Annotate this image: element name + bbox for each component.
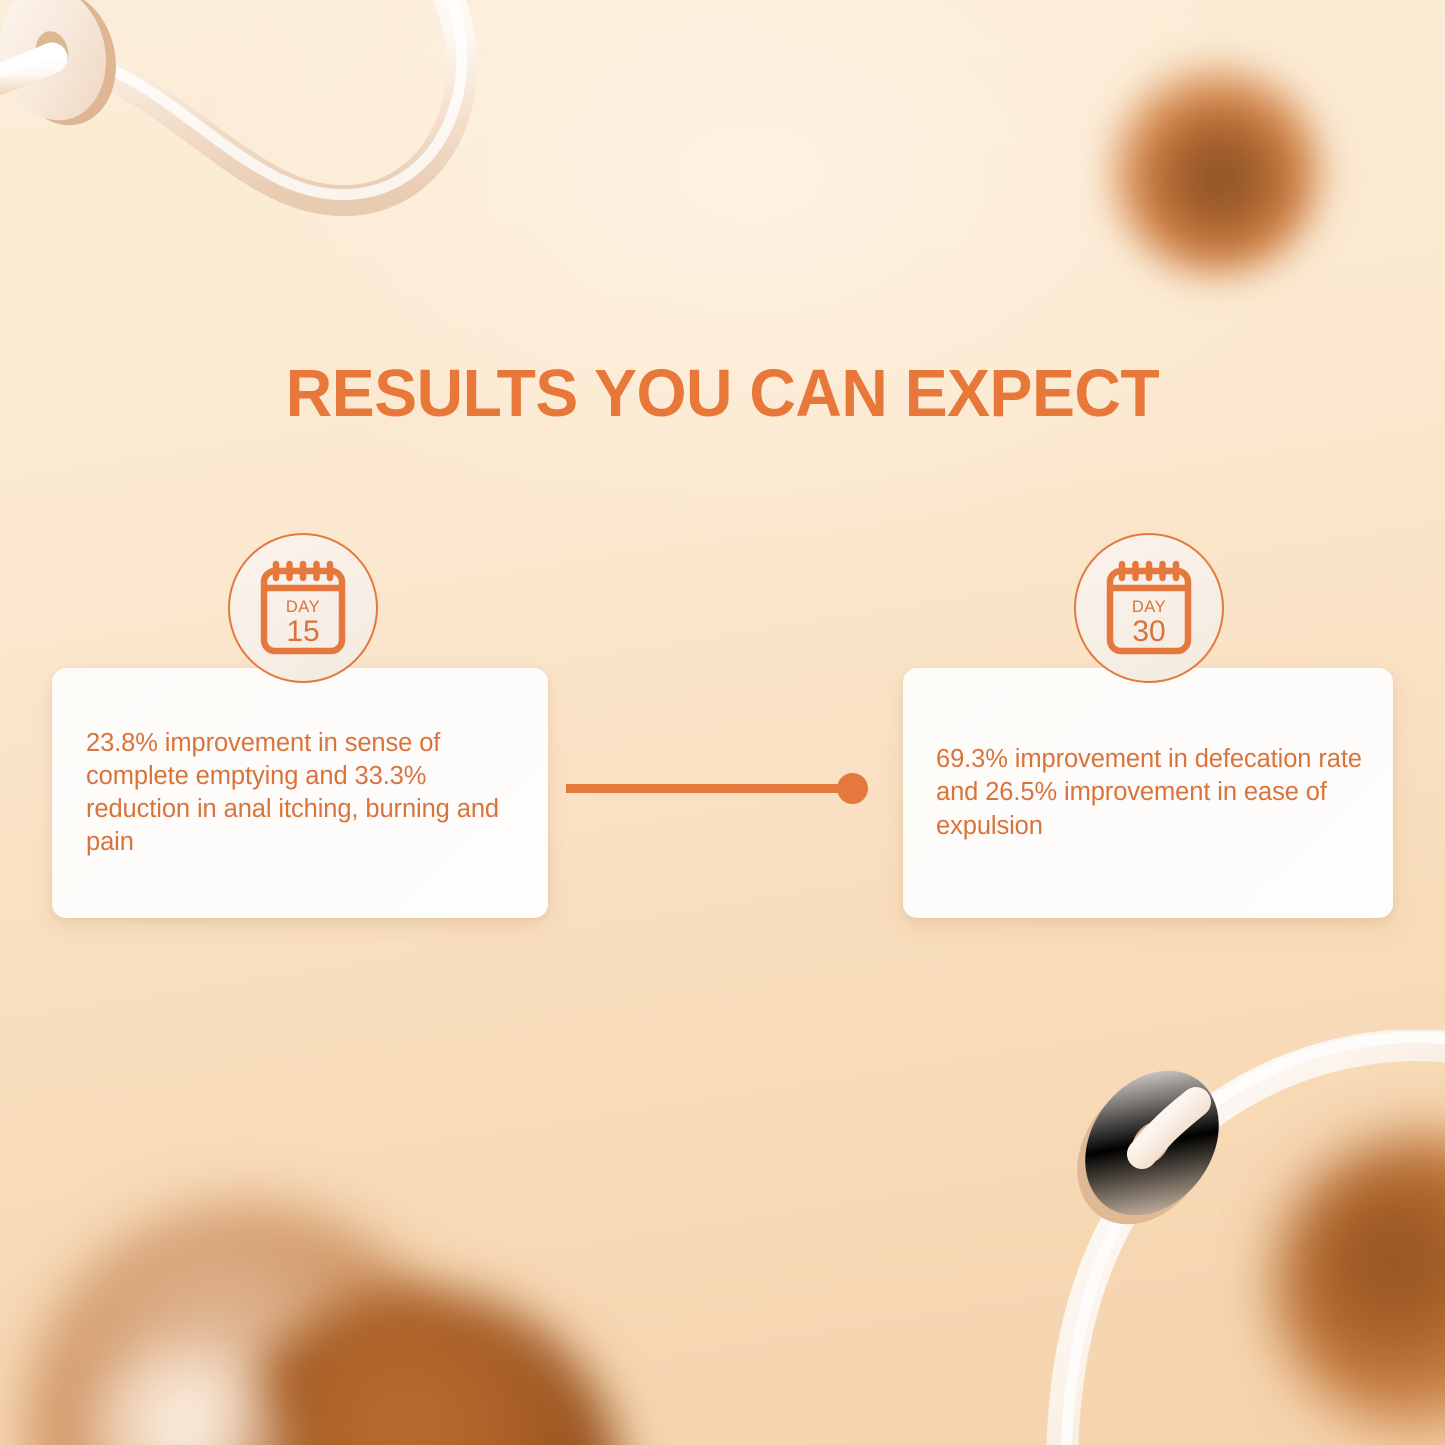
page-title: RESULTS YOU CAN EXPECT xyxy=(29,355,1416,432)
calendar-icon: DAY 30 xyxy=(1097,556,1201,660)
result-card-day-15-text: 23.8% improvement in sense of complete e… xyxy=(52,727,548,860)
badge-day-word: DAY xyxy=(286,598,320,616)
milestone-badge-day-30: DAY 30 xyxy=(1074,533,1224,683)
blurred-sphere-bottom-left-dark-icon xyxy=(222,1290,622,1445)
timeline-connector xyxy=(566,784,868,793)
blurred-sphere-bottom-right-icon xyxy=(1275,1135,1445,1435)
blurred-sphere-top-right-icon xyxy=(1108,62,1323,277)
blurred-sphere-bottom-left-icon xyxy=(30,1205,460,1445)
badge-day-number: 15 xyxy=(286,615,319,648)
badge-day-word: DAY xyxy=(1132,598,1166,616)
poster-canvas: RESULTS YOU CAN EXPECT DAY 15 xyxy=(0,0,1445,1445)
noodle-through-disc-bottom-right-icon xyxy=(1000,1030,1445,1445)
result-card-day-30: 69.3% improvement in defecation rate and… xyxy=(903,668,1393,918)
connector-end-dot xyxy=(837,773,868,804)
result-card-day-15: 23.8% improvement in sense of complete e… xyxy=(52,668,548,918)
noodle-through-disc-top-left-icon xyxy=(0,0,500,230)
connector-line xyxy=(566,784,858,793)
milestone-badge-day-15: DAY 15 xyxy=(228,533,378,683)
blurred-highlight-bottom-left-icon xyxy=(85,1345,285,1445)
badge-day-number: 30 xyxy=(1132,615,1165,648)
result-card-day-30-text: 69.3% improvement in defecation rate and… xyxy=(903,743,1393,842)
calendar-icon: DAY 15 xyxy=(251,556,355,660)
